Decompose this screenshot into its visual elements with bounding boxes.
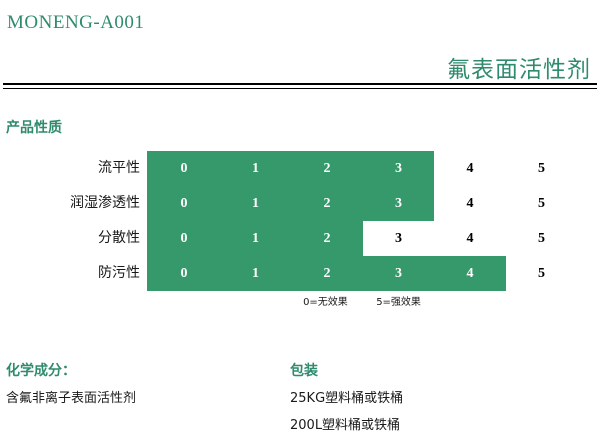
- rating-tick: 3: [384, 256, 414, 291]
- rating-tick: 0: [169, 151, 199, 186]
- property-label: 润湿渗透性: [0, 186, 140, 221]
- header-divider-thin: [3, 88, 597, 89]
- rating-tick: 4: [455, 151, 485, 186]
- rating-tick: 2: [312, 186, 342, 221]
- rating-tick: 4: [455, 186, 485, 221]
- packaging-option: 200L塑料桶或铁桶: [290, 414, 400, 433]
- rating-tick: 3: [384, 151, 414, 186]
- rating-tick: 2: [312, 256, 342, 291]
- chemical-composition-heading: 化学成分：: [6, 360, 76, 380]
- rating-tick: 0: [169, 256, 199, 291]
- property-label: 流平性: [0, 151, 140, 186]
- rating-tick: 3: [384, 221, 414, 256]
- legend-min: 0=无效果: [303, 293, 348, 308]
- product-properties-table: 流平性012345润湿渗透性012345分散性012345防污性012345: [0, 151, 601, 291]
- rating-tick: 5: [527, 221, 557, 256]
- chemical-composition-value: 含氟非离子表面活性剂: [6, 387, 136, 406]
- product-properties-heading: 产品性质: [6, 117, 62, 137]
- table-row: 流平性012345: [0, 151, 601, 186]
- rating-scale: 012345: [147, 221, 577, 256]
- rating-tick: 0: [169, 221, 199, 256]
- rating-scale: 012345: [147, 151, 577, 186]
- rating-tick: 5: [527, 151, 557, 186]
- header-divider-thick: [3, 83, 597, 85]
- rating-tick: 2: [312, 221, 342, 256]
- product-code: MONENG-A001: [7, 12, 144, 34]
- rating-tick: 2: [312, 151, 342, 186]
- rating-tick: 3: [384, 186, 414, 221]
- rating-tick: 4: [455, 256, 485, 291]
- rating-scale: 012345: [147, 256, 577, 291]
- table-row: 防污性012345: [0, 256, 601, 291]
- rating-tick: 5: [527, 256, 557, 291]
- packaging-heading: 包装: [290, 360, 318, 380]
- table-row: 分散性012345: [0, 221, 601, 256]
- rating-tick: 1: [241, 256, 271, 291]
- rating-legend: 0=无效果 5=强效果: [147, 293, 577, 308]
- property-label: 分散性: [0, 221, 140, 256]
- property-label: 防污性: [0, 256, 140, 291]
- rating-tick: 4: [455, 221, 485, 256]
- rating-tick: 0: [169, 186, 199, 221]
- rating-tick: 1: [241, 186, 271, 221]
- rating-tick: 1: [241, 221, 271, 256]
- document-header: MONENG-A001 氟表面活性剂: [0, 0, 601, 90]
- rating-tick: 5: [527, 186, 557, 221]
- rating-tick: 1: [241, 151, 271, 186]
- legend-max: 5=强效果: [376, 293, 421, 308]
- rating-scale: 012345: [147, 186, 577, 221]
- packaging-option: 25KG塑料桶或铁桶: [290, 387, 403, 406]
- page-title: 氟表面活性剂: [447, 50, 591, 84]
- table-row: 润湿渗透性012345: [0, 186, 601, 221]
